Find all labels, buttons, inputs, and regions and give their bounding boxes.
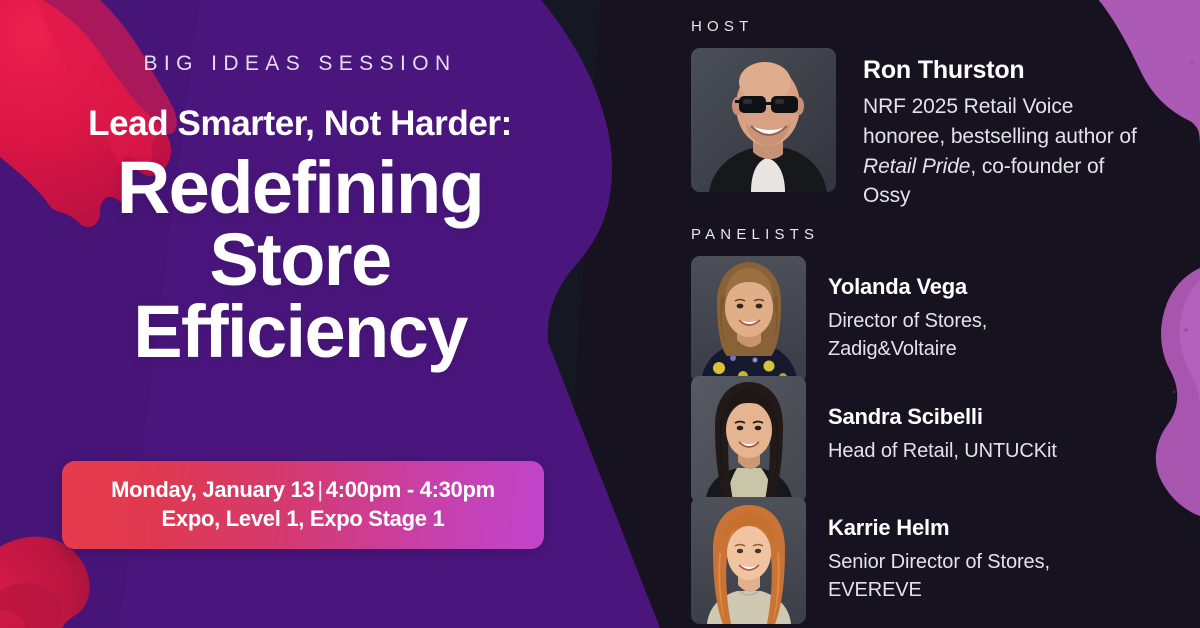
- host-card: Ron Thurston NRF 2025 Retail Voice honor…: [691, 48, 1143, 211]
- panelist-role: Head of Retail, UNTUCKit: [828, 438, 1088, 466]
- panelist-text-block: Karrie Helm Senior Director of Stores, E…: [828, 497, 1088, 604]
- headline-line-1: Redefining: [117, 152, 483, 224]
- right-content-column: HOST: [691, 0, 1161, 628]
- headline-line-2: Store: [117, 224, 483, 296]
- host-headshot: [691, 48, 836, 192]
- panelist-name: Sandra Scibelli: [828, 404, 1088, 430]
- host-section-label: HOST: [691, 18, 753, 35]
- session-details-badge: Monday, January 13|4:00pm - 4:30pm Expo,…: [62, 461, 544, 549]
- session-kicker: BIG IDEAS SESSION: [143, 52, 456, 76]
- panelist-name: Karrie Helm: [828, 515, 1088, 541]
- panelist-headshot: [691, 497, 806, 624]
- badge-time: 4:00pm - 4:30pm: [326, 477, 495, 502]
- host-text-block: Ron Thurston NRF 2025 Retail Voice honor…: [863, 48, 1143, 211]
- host-role-prefix: NRF 2025 Retail Voice honoree, bestselli…: [863, 95, 1137, 148]
- panelist-text-block: Sandra Scibelli Head of Retail, UNTUCKit: [828, 376, 1088, 466]
- badge-datetime-line: Monday, January 13|4:00pm - 4:30pm: [72, 475, 534, 504]
- panelist-headshot: [691, 376, 806, 503]
- badge-separator: |: [314, 477, 325, 502]
- host-name: Ron Thurston: [863, 56, 1143, 85]
- panelist-card: Karrie Helm Senior Director of Stores, E…: [691, 497, 1088, 624]
- badge-date: Monday, January 13: [111, 477, 314, 502]
- host-role: NRF 2025 Retail Voice honoree, bestselli…: [863, 92, 1143, 211]
- session-subheadline: Lead Smarter, Not Harder:: [88, 104, 512, 144]
- panelist-card: Sandra Scibelli Head of Retail, UNTUCKit: [691, 376, 1088, 503]
- panelist-headshot: [691, 256, 806, 383]
- panelists-section-label: PANELISTS: [691, 226, 819, 243]
- panelist-text-block: Yolanda Vega Director of Stores, Zadig&V…: [828, 256, 1088, 363]
- panelist-name: Yolanda Vega: [828, 274, 1088, 300]
- panelist-role: Senior Director of Stores, EVEREVE: [828, 549, 1088, 604]
- badge-location: Expo, Level 1, Expo Stage 1: [72, 504, 534, 533]
- panelist-card: Yolanda Vega Director of Stores, Zadig&V…: [691, 256, 1088, 383]
- host-role-book-title: Retail Pride: [863, 155, 970, 178]
- headline-line-3: Efficiency: [117, 296, 483, 368]
- panelist-role: Director of Stores, Zadig&Voltaire: [828, 308, 1088, 363]
- session-headline: Redefining Store Efficiency: [117, 152, 483, 367]
- promo-graphic: BIG IDEAS SESSION Lead Smarter, Not Hard…: [0, 0, 1200, 628]
